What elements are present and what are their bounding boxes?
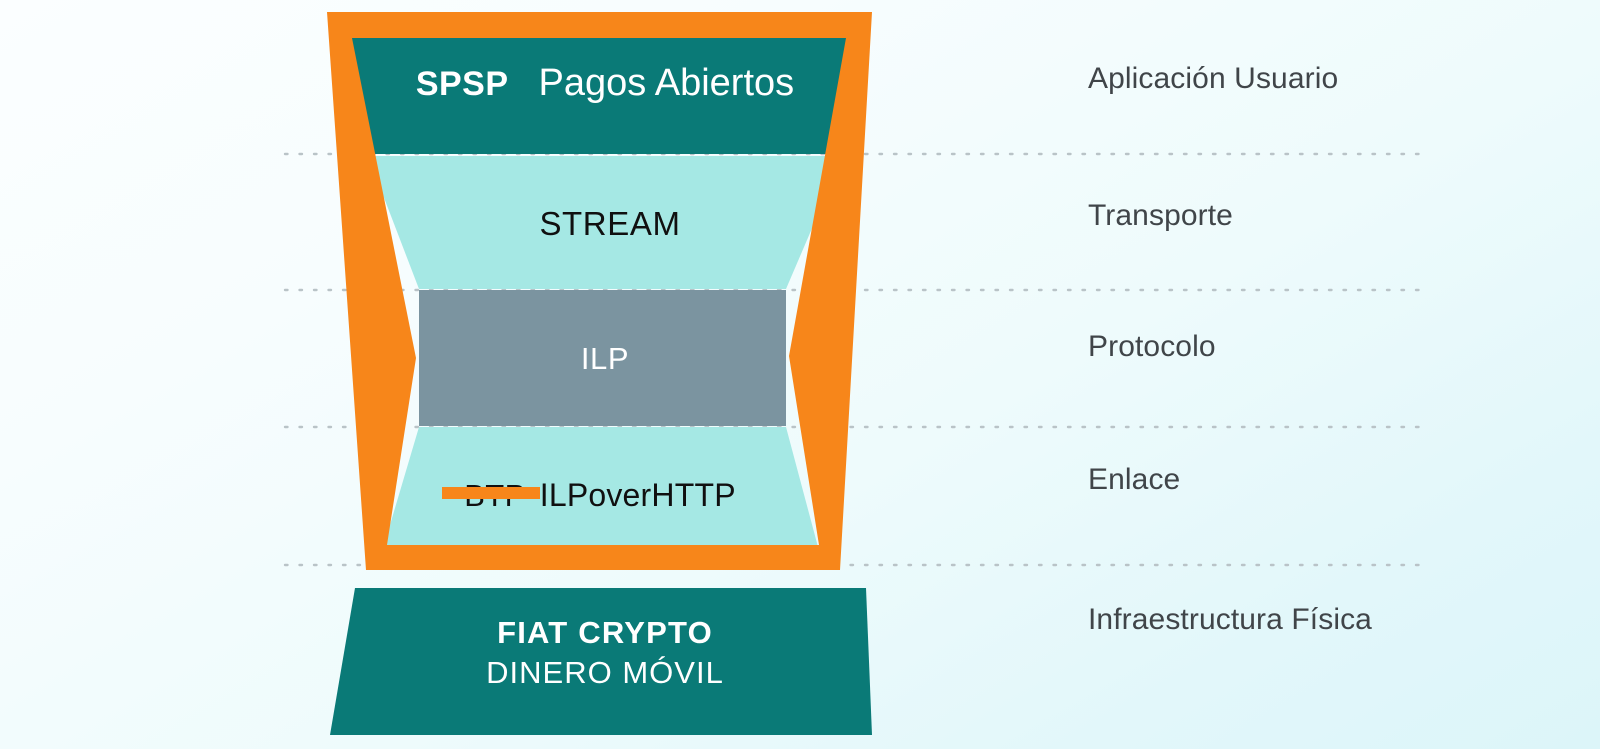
right-label-protocolo: Protocolo [1088,330,1216,364]
band-protocolo [419,290,786,426]
right-label-infraestructura-fisica: Infraestructura Física [1088,603,1372,637]
diagram-canvas: SPSP Pagos Abiertos STREAM ILP BTP ILPov… [0,0,1600,749]
band-infraestructura-fisica [330,588,872,735]
band-aplicacion-usuario [345,22,862,154]
right-label-aplicacion-usuario: Aplicación Usuario [1088,62,1338,96]
right-label-enlace: Enlace [1088,463,1180,497]
band-enlace [379,427,822,562]
band-transporte [368,156,843,289]
right-label-transporte: Transporte [1088,199,1233,233]
